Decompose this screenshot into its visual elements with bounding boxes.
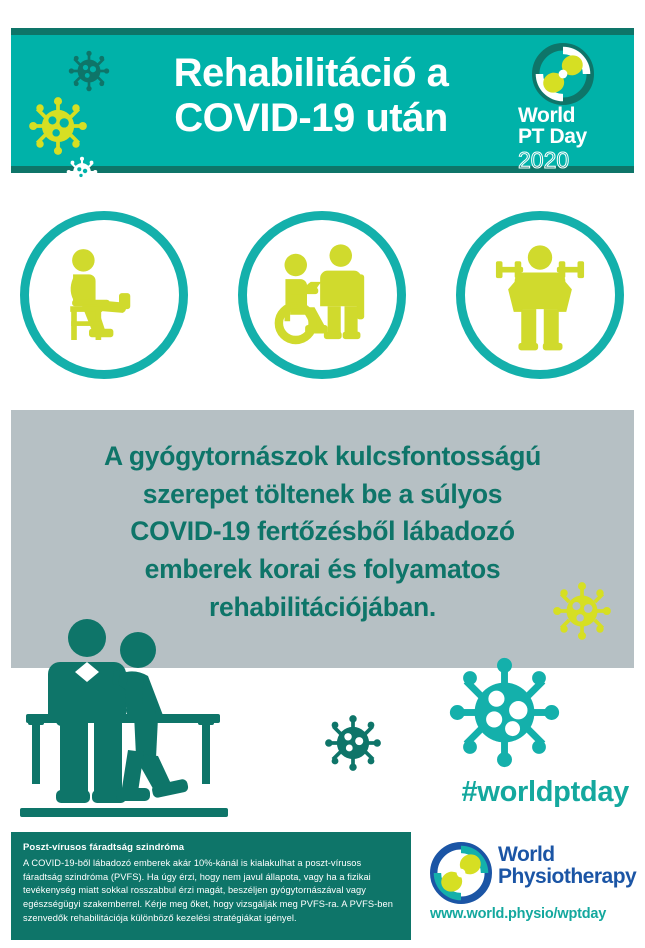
parallel-bars-rehab-illustration <box>12 618 237 830</box>
page-title: Rehabilitáció a COVID-19 után <box>111 51 511 141</box>
wp-line2: Physiotherapy <box>498 866 638 888</box>
wp-line1: World <box>498 843 555 866</box>
seated-leg-extension-icon <box>29 220 179 370</box>
virus-teal-large-icon <box>447 655 562 770</box>
quote-line-1: A gyógytornászok kulcsfontosságú <box>41 438 604 476</box>
world-physiotherapy-wordmark: World Physiotherapy <box>498 844 638 889</box>
icon-circle-seated-exercise <box>20 211 188 379</box>
virus-dark-teal-small-icon <box>67 49 111 93</box>
world-physiotherapy-roundel-icon <box>430 842 492 904</box>
website-url[interactable]: www.world.physio/wptday <box>430 906 635 922</box>
wptday-year: 2020 <box>518 148 618 172</box>
quote-line-4: emberek korai és folyamatos <box>41 551 604 589</box>
quote-line-3: COVID-19 fertőzésből lábadozó <box>41 513 604 551</box>
quote-text: A gyógytornászok kulcsfontosságú szerepe… <box>41 438 604 626</box>
pvfs-body: A COVID-19-ből lábadozó emberek akár 10%… <box>23 857 399 925</box>
page-title-line2: COVID-19 után <box>111 96 511 141</box>
icon-circle-dumbbell-lift <box>456 211 624 379</box>
world-pt-day-wordmark: World PT Day 2020 <box>518 105 618 172</box>
hashtag: #worldptday <box>462 776 630 809</box>
wheelchair-assist-icon <box>247 220 397 370</box>
dumbbell-lift-icon <box>465 220 615 370</box>
quote-line-2: szerepet töltenek be a súlyos <box>41 476 604 514</box>
world-physiotherapy-logo: World Physiotherapy www.world.physio/wpt… <box>430 840 635 940</box>
wptday-line1: World <box>518 104 575 127</box>
virus-dark-teal-icon <box>322 712 384 774</box>
mid-section: #worldptday <box>0 600 645 835</box>
pvfs-info-box: Poszt-vírusos fáradtság szindróma A COVI… <box>11 832 411 940</box>
wptday-line2: PT Day <box>518 125 587 148</box>
pvfs-heading: Poszt-vírusos fáradtság szindróma <box>23 842 399 853</box>
page-title-line1: Rehabilitáció a <box>174 51 449 95</box>
world-pt-day-roundel-icon <box>532 43 594 105</box>
virus-white-small-icon <box>65 155 99 189</box>
icon-row <box>0 205 645 390</box>
poster-header: Rehabilitáció a COVID-19 után World PT D… <box>11 28 634 173</box>
icon-circle-wheelchair-assist <box>238 211 406 379</box>
virus-lime-large-icon <box>27 95 89 157</box>
world-pt-day-logo: World PT Day 2020 <box>518 43 618 163</box>
poster-footer: Poszt-vírusos fáradtság szindróma A COVI… <box>0 832 645 948</box>
